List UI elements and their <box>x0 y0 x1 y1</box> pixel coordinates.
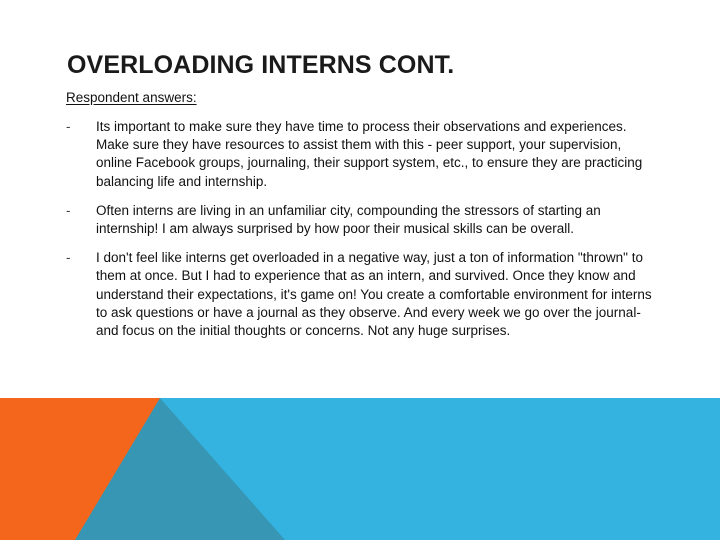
footer-triangles-graphic <box>0 398 720 540</box>
slide: Overloading Interns Cont. Respondent ans… <box>0 0 720 540</box>
lead-in-label: Respondent answers: <box>66 89 658 107</box>
page-title: Overloading Interns Cont. <box>67 50 667 80</box>
dash-bullet-icon: - <box>66 202 80 220</box>
list-item-text: Often interns are living in an unfamilia… <box>96 203 601 236</box>
dash-bullet-icon: - <box>66 249 80 267</box>
decorative-footer-band <box>0 398 720 540</box>
list-item: - Often interns are living in an unfamil… <box>66 202 658 238</box>
list-item-text: Its important to make sure they have tim… <box>96 119 642 189</box>
respondent-answers-list: - Its important to make sure they have t… <box>66 118 658 340</box>
dash-bullet-icon: - <box>66 118 80 136</box>
list-item-text: I don't feel like interns get overloaded… <box>96 250 652 338</box>
slide-body: Respondent answers: - Its important to m… <box>66 89 658 340</box>
list-item: - Its important to make sure they have t… <box>66 118 658 191</box>
list-item: - I don't feel like interns get overload… <box>66 249 658 340</box>
